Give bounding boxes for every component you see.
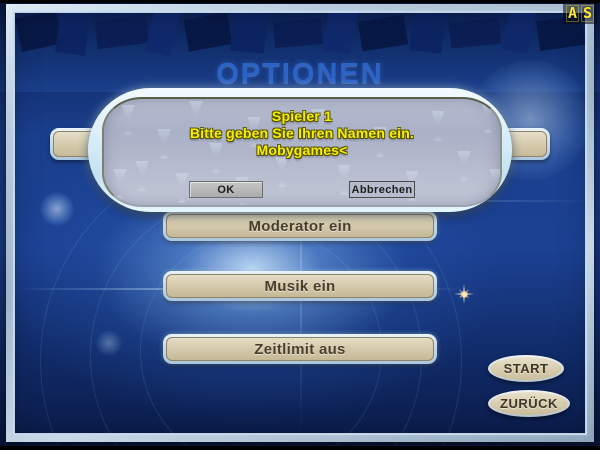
dialog-prompt-text: Bitte geben Sie Ihren Namen ein. [104, 125, 500, 142]
start-button-label: START [504, 361, 549, 376]
dialog-cancel-label: Abbrechen [351, 184, 412, 196]
timelimit-toggle-label: Zeitlimit aus [254, 341, 345, 358]
back-button[interactable]: ZURÜCK [488, 390, 570, 417]
name-entry-dialog: Spieler 1 Bitte geben Sie Ihren Namen ei… [88, 88, 512, 212]
dialog-message: Spieler 1 Bitte geben Sie Ihren Namen ei… [104, 99, 500, 159]
music-button-face: Musik ein [166, 274, 434, 298]
moderator-button-face: Moderator ein [166, 214, 434, 238]
page-title: OPTIONEN [0, 58, 600, 91]
music-toggle-button[interactable]: Musik ein [163, 271, 437, 301]
light-orb [40, 192, 74, 226]
sparkle-effect [452, 282, 476, 306]
name-entry-dialog-body: Spieler 1 Bitte geben Sie Ihren Namen ei… [102, 97, 502, 207]
moderator-toggle-label: Moderator ein [248, 218, 351, 235]
watermark-letter-s: S [581, 5, 594, 22]
music-toggle-label: Musik ein [264, 278, 335, 295]
moderator-toggle-button[interactable]: Moderator ein [163, 211, 437, 241]
start-button-face: START [490, 357, 562, 380]
start-button[interactable]: START [488, 355, 564, 382]
watermark-logo: A S [563, 3, 597, 24]
back-button-label: ZURÜCK [500, 396, 558, 411]
timelimit-toggle-button[interactable]: Zeitlimit aus [163, 334, 437, 364]
watermark-letter-a: A [566, 5, 579, 22]
dialog-cancel-button[interactable]: Abbrechen [349, 181, 415, 198]
letterbox-bottom [0, 446, 600, 450]
dialog-name-input[interactable]: Mobygames< [104, 142, 500, 159]
back-button-face: ZURÜCK [490, 392, 568, 415]
letterbox-top [0, 0, 600, 3]
dialog-ok-button[interactable]: OK [189, 181, 263, 198]
dialog-player-label: Spieler 1 [104, 108, 500, 125]
game-screen: OPTIONEN 1 Spieler Moderator ein Musik e… [0, 0, 600, 450]
timelimit-button-face: Zeitlimit aus [166, 337, 434, 361]
dialog-button-row: OK Abbrechen [104, 181, 500, 198]
light-orb [96, 330, 122, 356]
dialog-ok-label: OK [217, 184, 234, 196]
